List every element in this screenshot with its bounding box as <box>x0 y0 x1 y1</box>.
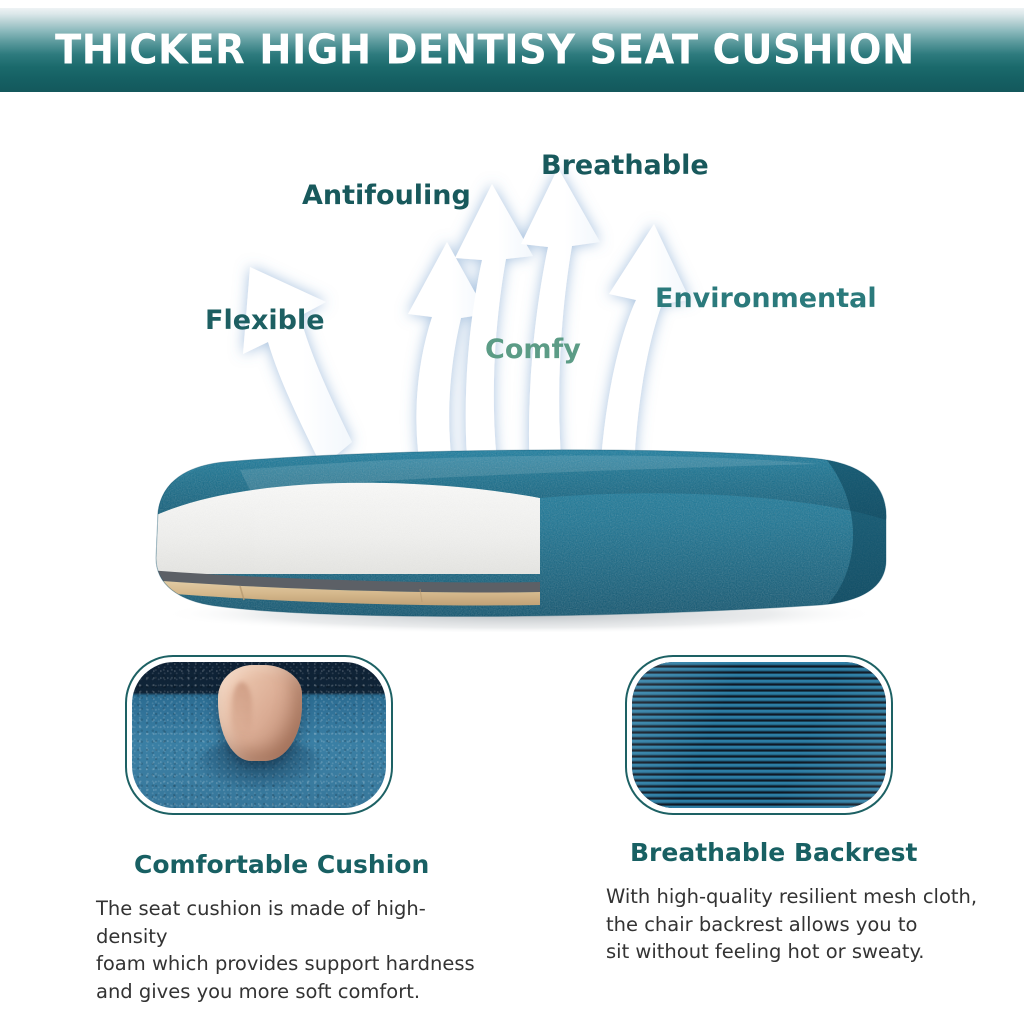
panel-breathable-backrest <box>625 655 893 815</box>
caption-breathable-backrest: Breathable Backrest With high-quality re… <box>606 840 1006 966</box>
mesh-sheen-overlay <box>632 662 886 808</box>
cushion-body <box>120 432 920 632</box>
caption-title-mesh: Breathable Backrest <box>606 840 1006 865</box>
feature-label-comfy: Comfy <box>485 336 581 363</box>
caption-body-cushion: The seat cushion is made of high-density… <box>96 895 496 1006</box>
feature-label-flexible: Flexible <box>205 307 325 334</box>
cushion-product-image <box>120 392 920 632</box>
hand-pressing-icon <box>218 665 302 761</box>
caption-title-cushion: Comfortable Cushion <box>96 852 496 877</box>
panel-cushion-image <box>132 662 386 808</box>
page-title: THICKER HIGH DENTISY SEAT CUSHION <box>55 30 915 71</box>
caption-body-mesh: With high-quality resilient mesh cloth, … <box>606 883 1006 966</box>
feature-diagram: Flexible Antifouling Breathable Environm… <box>0 92 1024 632</box>
panel-comfortable-cushion <box>125 655 393 815</box>
panel-mesh-image <box>632 662 886 808</box>
feature-label-environmental: Environmental <box>655 285 877 312</box>
header-banner: THICKER HIGH DENTISY SEAT CUSHION <box>0 8 1024 92</box>
feature-label-breathable: Breathable <box>541 152 709 179</box>
feature-label-antifouling: Antifouling <box>302 182 471 209</box>
caption-comfortable-cushion: Comfortable Cushion The seat cushion is … <box>96 852 496 1006</box>
